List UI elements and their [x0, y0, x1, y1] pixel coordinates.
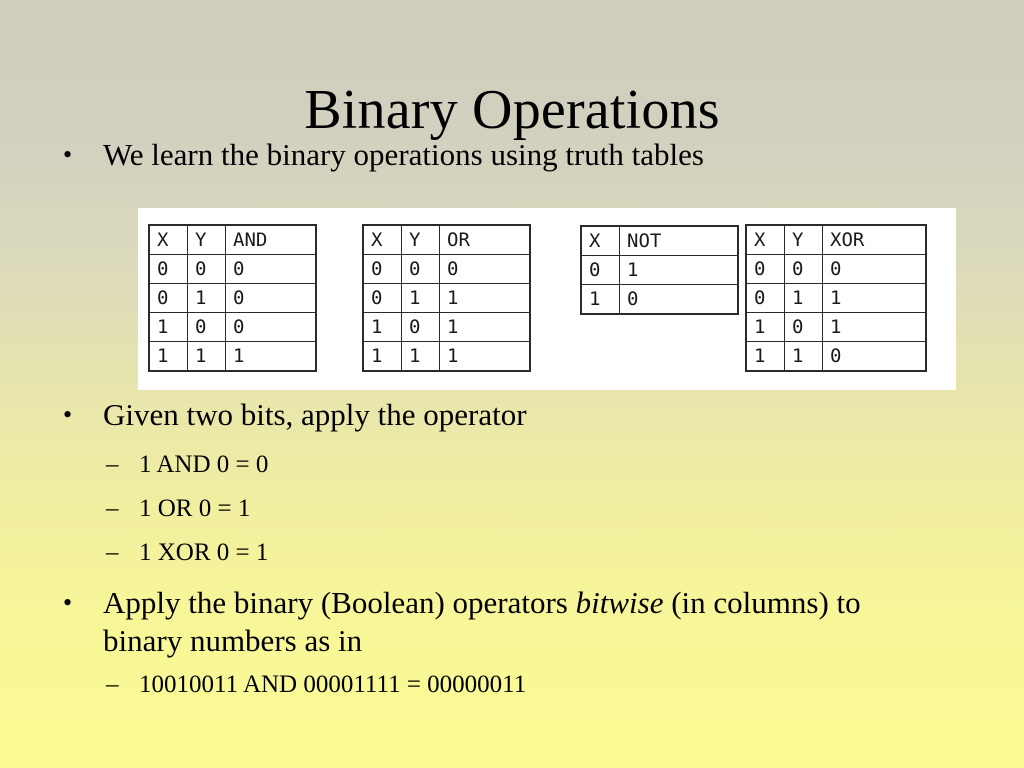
page-title: Binary Operations	[0, 76, 1024, 144]
table-cell: 1	[363, 342, 402, 372]
table-cell: 0	[226, 255, 317, 284]
table-header-row: X Y AND	[149, 225, 316, 255]
table-cell: 1	[746, 342, 785, 372]
table-row: 1 1 1	[363, 342, 530, 372]
table-header-cell: OR	[440, 225, 531, 255]
truth-tables-panel: X Y AND 0 0 0 0 1 0 1 0 0 1 1 1	[138, 208, 956, 390]
table-header-row: X Y OR	[363, 225, 530, 255]
table-cell: 0	[402, 255, 440, 284]
table-row: 0 0 0	[363, 255, 530, 284]
table-cell: 0	[149, 284, 188, 313]
table-cell: 0	[785, 313, 823, 342]
bullet-marker-icon: •	[60, 136, 103, 174]
table-row: 1 1 1	[149, 342, 316, 372]
table-cell: 0	[226, 313, 317, 342]
table-header-cell: X	[746, 225, 785, 255]
bullet-text-rich: Apply the binary (Boolean) operators bit…	[103, 584, 940, 660]
truth-table-xor: X Y XOR 0 0 0 0 1 1 1 0 1 1 1 0	[745, 224, 927, 372]
table-cell: 1	[746, 313, 785, 342]
table-cell: 0	[823, 255, 927, 284]
bullet-item-1: • We learn the binary operations using t…	[60, 136, 990, 174]
table-row: 0 0 0	[149, 255, 316, 284]
bullet-marker-icon: •	[60, 584, 103, 622]
table-cell: 1	[226, 342, 317, 372]
sub-bullet-item-and: – 1 AND 0 = 0	[106, 448, 986, 481]
sub-bullet-item-bitwise-example: – 10010011 AND 00001111 = 00000011	[106, 668, 986, 701]
dash-marker-icon: –	[106, 668, 139, 701]
table-cell: 1	[149, 342, 188, 372]
table-cell: 1	[785, 284, 823, 313]
table-cell: 1	[402, 342, 440, 372]
bullet-item-3: • Apply the binary (Boolean) operators b…	[60, 584, 940, 660]
table-cell: 0	[226, 284, 317, 313]
dash-marker-icon: –	[106, 536, 139, 569]
truth-table-or: X Y OR 0 0 0 0 1 1 1 0 1 1 1 1	[362, 224, 531, 372]
table-cell: 0	[581, 256, 620, 285]
table-cell: 1	[620, 256, 739, 285]
table-cell: 1	[402, 284, 440, 313]
bullet-item-2: • Given two bits, apply the operator	[60, 396, 990, 434]
slide-canvas: Binary Operations • We learn the binary …	[0, 0, 1024, 768]
dash-marker-icon: –	[106, 448, 139, 481]
table-cell: 0	[440, 255, 531, 284]
bullet-text: We learn the binary operations using tru…	[103, 136, 990, 174]
sub-bullet-text: 1 XOR 0 = 1	[139, 536, 986, 569]
table-row: 1 1 0	[746, 342, 926, 372]
bullet-text: Given two bits, apply the operator	[103, 396, 990, 434]
table-header-row: X Y XOR	[746, 225, 926, 255]
table-row: 1 0 1	[363, 313, 530, 342]
table-row: 1 0	[581, 285, 738, 315]
table-header-cell: X	[363, 225, 402, 255]
table-header-cell: Y	[785, 225, 823, 255]
table-header-cell: X	[581, 226, 620, 256]
truth-table-not: X NOT 0 1 1 0	[580, 225, 739, 315]
sub-bullet-text: 10010011 AND 00001111 = 00000011	[139, 668, 986, 701]
table-cell: 1	[440, 284, 531, 313]
table-header-cell: Y	[402, 225, 440, 255]
table-cell: 1	[188, 342, 226, 372]
table-header-cell: AND	[226, 225, 317, 255]
table-cell: 0	[785, 255, 823, 284]
table-cell: 0	[402, 313, 440, 342]
table-cell: 1	[581, 285, 620, 315]
table-cell: 0	[363, 284, 402, 313]
bullet-marker-icon: •	[60, 396, 103, 434]
table-row: 0 1 1	[746, 284, 926, 313]
table-cell: 0	[188, 255, 226, 284]
table-cell: 1	[149, 313, 188, 342]
table-cell: 0	[746, 255, 785, 284]
table-row: 1 0 0	[149, 313, 316, 342]
table-cell: 0	[823, 342, 927, 372]
bullet-text-segment-italic: bitwise	[576, 585, 664, 620]
table-row: 0 1	[581, 256, 738, 285]
table-cell: 0	[149, 255, 188, 284]
dash-marker-icon: –	[106, 492, 139, 525]
sub-bullet-item-or: – 1 OR 0 = 1	[106, 492, 986, 525]
sub-bullet-text: 1 AND 0 = 0	[139, 448, 986, 481]
table-cell: 1	[363, 313, 402, 342]
table-header-cell: Y	[188, 225, 226, 255]
table-cell: 0	[620, 285, 739, 315]
table-cell: 1	[785, 342, 823, 372]
table-row: 0 1 1	[363, 284, 530, 313]
truth-table-and: X Y AND 0 0 0 0 1 0 1 0 0 1 1 1	[148, 224, 317, 372]
table-cell: 0	[746, 284, 785, 313]
table-cell: 1	[823, 313, 927, 342]
table-header-cell: NOT	[620, 226, 739, 256]
bullet-text-segment-before: Apply the binary (Boolean) operators	[103, 585, 576, 620]
table-cell: 1	[188, 284, 226, 313]
table-cell: 1	[440, 342, 531, 372]
table-header-row: X NOT	[581, 226, 738, 256]
table-cell: 0	[363, 255, 402, 284]
table-cell: 1	[440, 313, 531, 342]
table-row: 1 0 1	[746, 313, 926, 342]
sub-bullet-text: 1 OR 0 = 1	[139, 492, 986, 525]
table-row: 0 0 0	[746, 255, 926, 284]
table-header-cell: X	[149, 225, 188, 255]
table-row: 0 1 0	[149, 284, 316, 313]
table-cell: 0	[188, 313, 226, 342]
table-cell: 1	[823, 284, 927, 313]
sub-bullet-item-xor: – 1 XOR 0 = 1	[106, 536, 986, 569]
table-header-cell: XOR	[823, 225, 927, 255]
